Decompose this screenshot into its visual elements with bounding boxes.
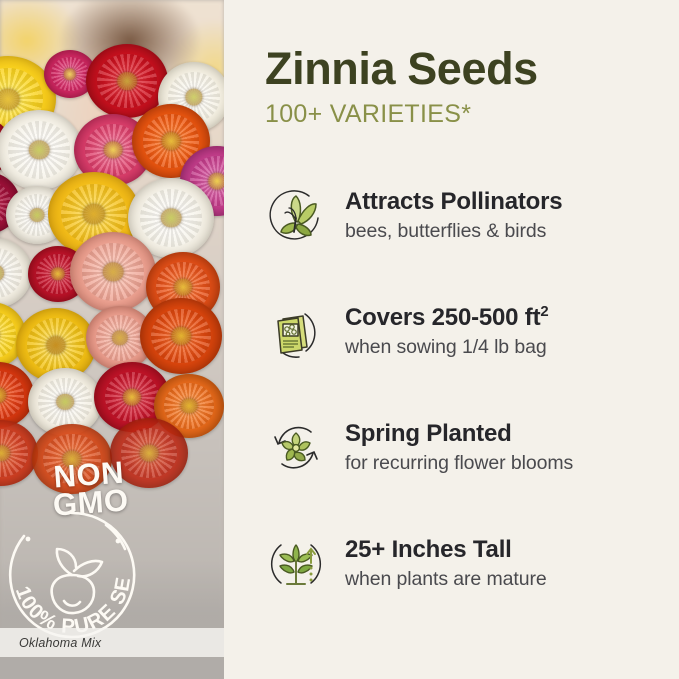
page-subtitle: 100+ VARIETIES* [265, 100, 679, 129]
feature-text-block: Covers 250-500 ft2 when sowing 1/4 lb ba… [345, 304, 548, 359]
feature-text-block: 25+ Inches Tall when plants are mature [345, 537, 547, 591]
feature-title: 25+ Inches Tall [345, 537, 547, 564]
page-title: Zinnia Seeds [265, 45, 679, 93]
seed-packet-icon [265, 301, 327, 363]
flower-cycle-icon [265, 417, 327, 479]
feature-text-block: Spring Planted for recurring flower bloo… [345, 421, 573, 475]
product-photo: NON GMO [0, 0, 224, 679]
feature-item-spring-planted: Spring Planted for recurring flower bloo… [265, 405, 679, 491]
feature-text-block: Attracts Pollinators bees, butterflies &… [345, 189, 562, 243]
seed-sprout-icon [52, 549, 102, 613]
feature-title-main: Covers 250-500 ft [345, 304, 540, 331]
pure-seed-ring-text: 100% PURE SEED [0, 497, 135, 638]
photo-caption-text: Oklahoma Mix [0, 636, 101, 650]
feature-subtitle: when plants are mature [345, 568, 547, 591]
feature-title: Covers 250-500 ft2 [345, 304, 548, 332]
butterfly-icon [265, 185, 327, 247]
feature-subtitle: when sowing 1/4 lb bag [345, 336, 548, 359]
feature-title: Attracts Pollinators [345, 189, 562, 216]
feature-item-attracts-pollinators: Attracts Pollinators bees, butterflies &… [265, 173, 679, 259]
feature-subtitle: bees, butterflies & birds [345, 220, 562, 243]
feature-list: Attracts Pollinators bees, butterflies &… [265, 173, 679, 607]
info-panel: Zinnia Seeds 100+ VARIETIES* [224, 0, 679, 679]
photo-caption-bar: Oklahoma Mix [0, 628, 224, 657]
feature-subtitle: for recurring flower blooms [345, 452, 573, 475]
feature-item-coverage: Covers 250-500 ft2 when sowing 1/4 lb ba… [265, 289, 679, 375]
feature-item-height: 25+ Inches Tall when plants are mature [265, 521, 679, 607]
feature-title: Spring Planted [345, 421, 573, 448]
svg-text:100% PURE SEED: 100% PURE SEED [0, 497, 135, 638]
product-infographic: NON GMO [0, 0, 679, 679]
feature-title-superscript: 2 [540, 304, 548, 320]
plant-height-icon [265, 533, 327, 595]
